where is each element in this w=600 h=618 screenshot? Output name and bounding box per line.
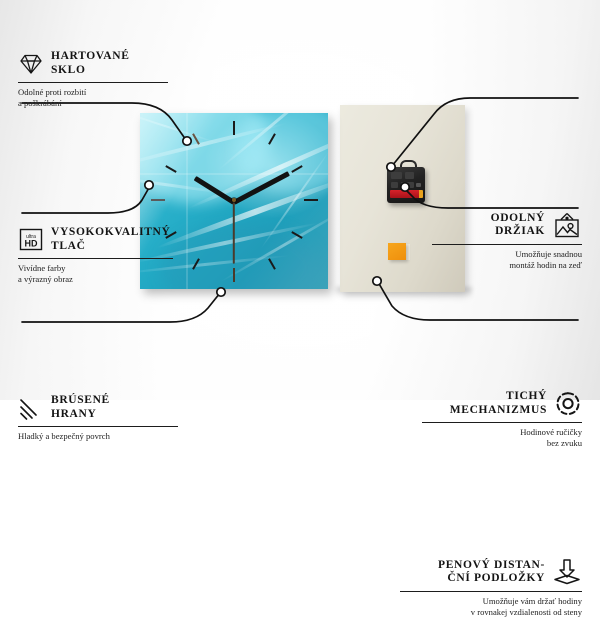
connector-right-middle [404, 188, 578, 208]
feature-title-line1: PENOVÝ DISTAN- [438, 559, 545, 573]
feature-sub-line2: bez zvuku [422, 438, 582, 449]
feature-silent-mechanism: TICHÝ MECHANIZMUS Hodinové ručičky bez z… [422, 390, 582, 448]
gear-icon [554, 390, 582, 417]
ultra-hd-badge-icon: ultra HD [18, 227, 44, 252]
feature-divider [432, 244, 582, 245]
node-right-top [387, 163, 395, 171]
diamond-icon [18, 52, 44, 76]
infographic-canvas: HARTOVANÉ SKLO Odolné proti rozbití a po… [0, 0, 600, 400]
feature-sub-line2: montáž hodin na zeď [432, 260, 582, 271]
feature-title-line2: MECHANIZMUS [450, 404, 547, 418]
node-left-top [183, 137, 191, 145]
feature-sub-line1: Hladký a bezpečný povrch [18, 431, 178, 442]
feature-sub-line2: a poškrábání [18, 98, 168, 109]
feature-sub-line1: Hodinové ručičky [422, 427, 582, 438]
hd-label: HD [25, 239, 38, 249]
feature-title-line2: TLAČ [51, 240, 170, 254]
feature-high-quality-print: ultra HD VYSOKOKVALITNÝ TLAČ Vivídne far… [18, 226, 173, 284]
node-left-bottom [217, 288, 225, 296]
feature-sub-line1: Vivídne farby [18, 263, 173, 274]
feature-sub-line1: Odolné proti rozbití [18, 87, 168, 98]
foam-spacer-icon [552, 558, 582, 586]
feature-divider [18, 426, 178, 427]
picture-frame-hanger-icon [552, 212, 582, 238]
feature-sub-line1: Umožňuje snadnou [432, 249, 582, 260]
feature-title-line1: BRÚSENÉ [51, 394, 110, 408]
connector-right-bottom [378, 282, 578, 320]
feature-title-line1: HARTOVANÉ [51, 50, 130, 64]
polished-edges-icon [18, 396, 44, 420]
connector-right-top [392, 98, 578, 166]
feature-sub-line2: a výrazný obraz [18, 274, 173, 285]
node-right-bottom [373, 277, 381, 285]
connector-left-bottom [22, 293, 220, 322]
feature-hardened-glass: HARTOVANÉ SKLO Odolné proti rozbití a po… [18, 50, 168, 108]
node-right-middle [401, 183, 409, 191]
feature-sub-line2: v rovnakej vzdialenosti od steny [400, 607, 582, 618]
feature-title-line2: HRANY [51, 408, 110, 422]
feature-sub-line1: Umožňuje vám držať hodiny [400, 596, 582, 607]
feature-title-line1: VYSOKOKVALITNÝ [51, 226, 170, 240]
feature-foam-spacers: PENOVÝ DISTAN- ČNÍ PODLOŽKY Umožňuje vám… [400, 558, 582, 617]
feature-divider [400, 591, 582, 592]
connector-left-top [22, 103, 186, 140]
feature-polished-edges: BRÚSENÉ HRANY Hladký a bezpečný povrch [18, 394, 178, 442]
feature-title-line2: SKLO [51, 64, 130, 78]
feature-divider [18, 82, 168, 83]
connector-left-middle [22, 186, 150, 213]
feature-title-line2: DRŽIAK [491, 225, 545, 239]
feature-title-line1: ODOLNÝ [491, 212, 545, 226]
feature-title-line2: ČNÍ PODLOŽKY [438, 572, 545, 586]
node-left-middle [145, 181, 153, 189]
feature-title-line1: TICHÝ [450, 390, 547, 404]
feature-divider [422, 422, 582, 423]
feature-durable-hanger: ODOLNÝ DRŽIAK Umožňuje snadnou montáž ho… [432, 212, 582, 270]
feature-divider [18, 258, 173, 259]
